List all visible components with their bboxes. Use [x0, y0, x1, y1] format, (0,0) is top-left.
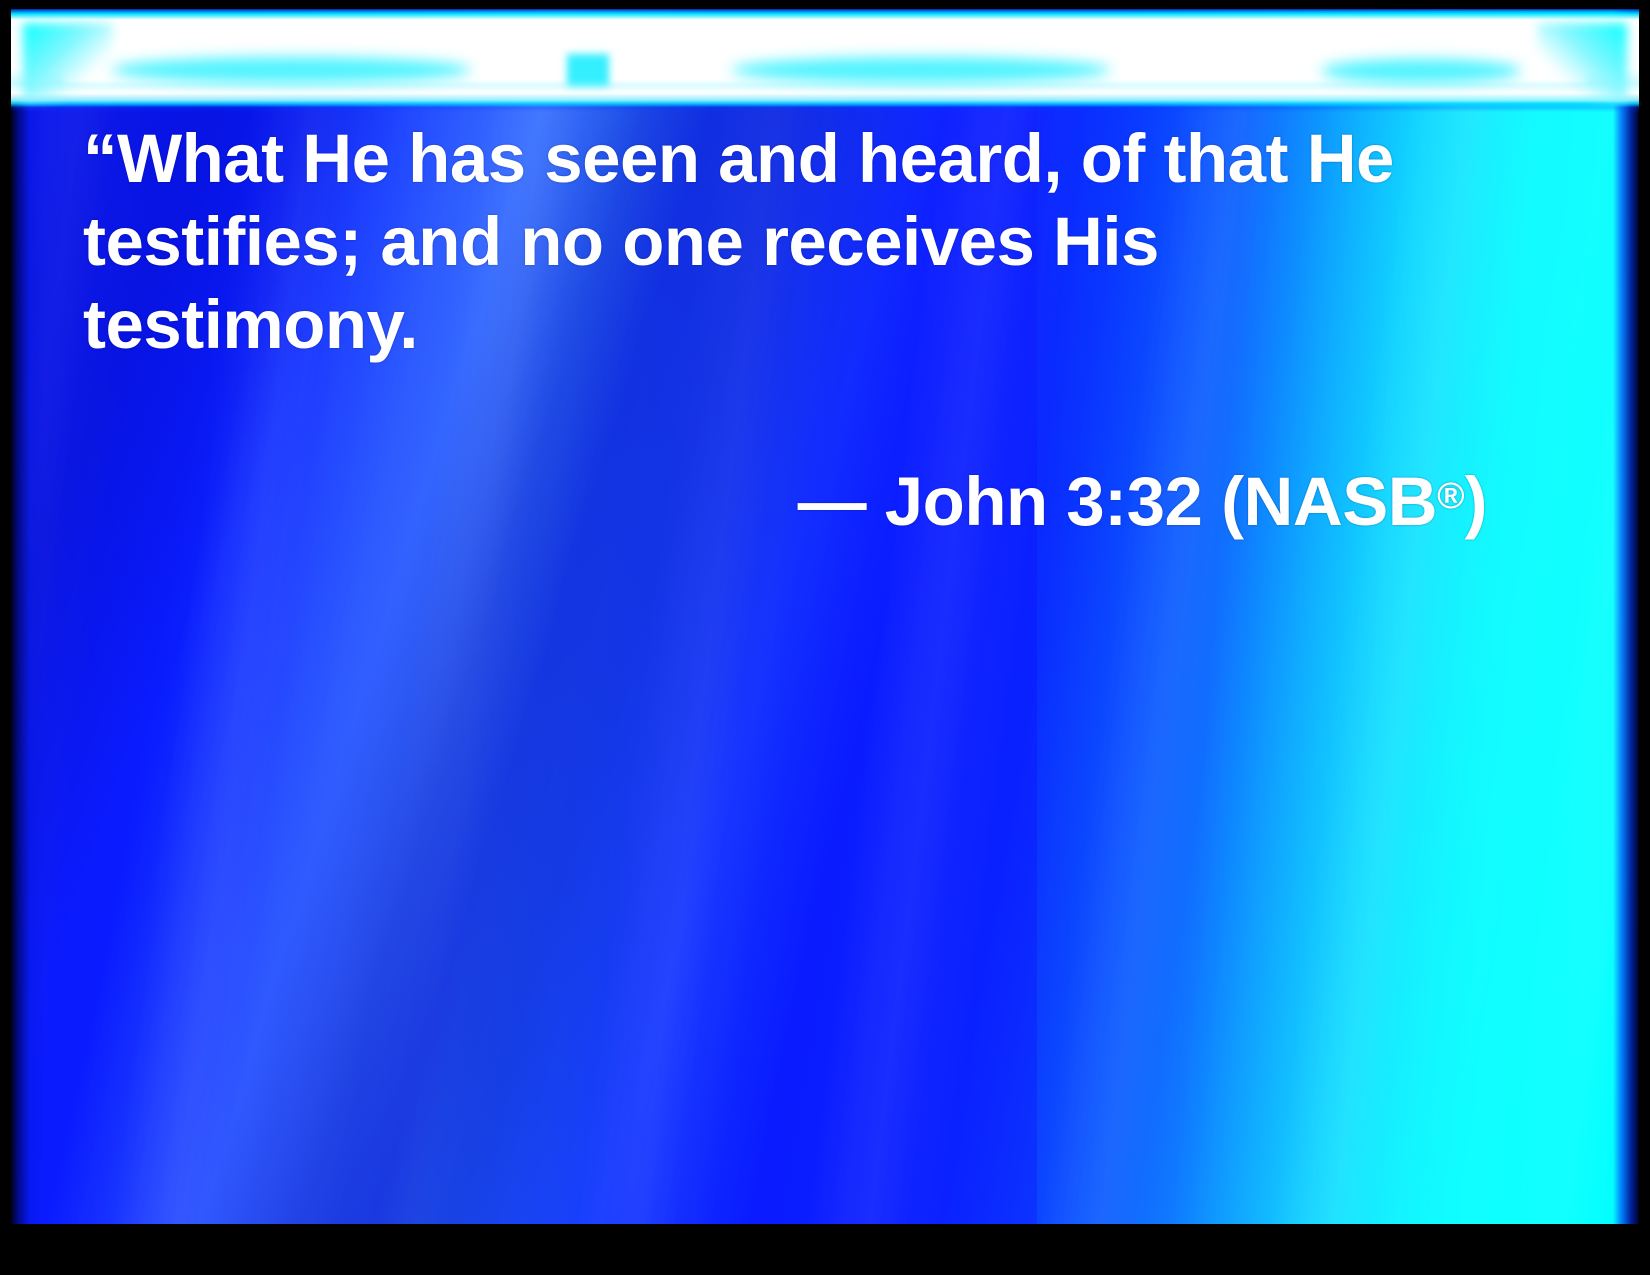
- verse-slide: “What He has seen and heard, of that He …: [0, 0, 1650, 1275]
- frame-border-top: [0, 0, 1650, 9]
- background-left-edge-shade: [11, 9, 45, 1224]
- attribution-suffix: ): [1465, 463, 1487, 540]
- frame-border-right: [1639, 0, 1650, 1275]
- slide-artwork: “What He has seen and heard, of that He …: [11, 9, 1639, 1224]
- top-bar-cyan-blotch: [111, 57, 471, 83]
- top-bar-right-wedge: [1537, 23, 1627, 101]
- verse-text-block: “What He has seen and heard, of that He …: [83, 117, 1503, 543]
- attribution-prefix: — John 3:32 (NASB: [798, 463, 1437, 540]
- top-bar-cyan-blotch: [731, 57, 1111, 83]
- verse-attribution: — John 3:32 (NASB®): [83, 454, 1503, 543]
- background-right-edge-shade: [1613, 9, 1639, 1224]
- registered-trademark-icon: ®: [1437, 474, 1464, 516]
- frame-border-bottom: [0, 1224, 1650, 1275]
- frame-border-left: [0, 0, 11, 1275]
- top-bar-cyan-blotch: [1321, 59, 1521, 83]
- top-bar-center-notch: [567, 54, 609, 86]
- top-bar-left-wedge: [23, 23, 113, 101]
- verse-body-text: “What He has seen and heard, of that He …: [83, 117, 1503, 366]
